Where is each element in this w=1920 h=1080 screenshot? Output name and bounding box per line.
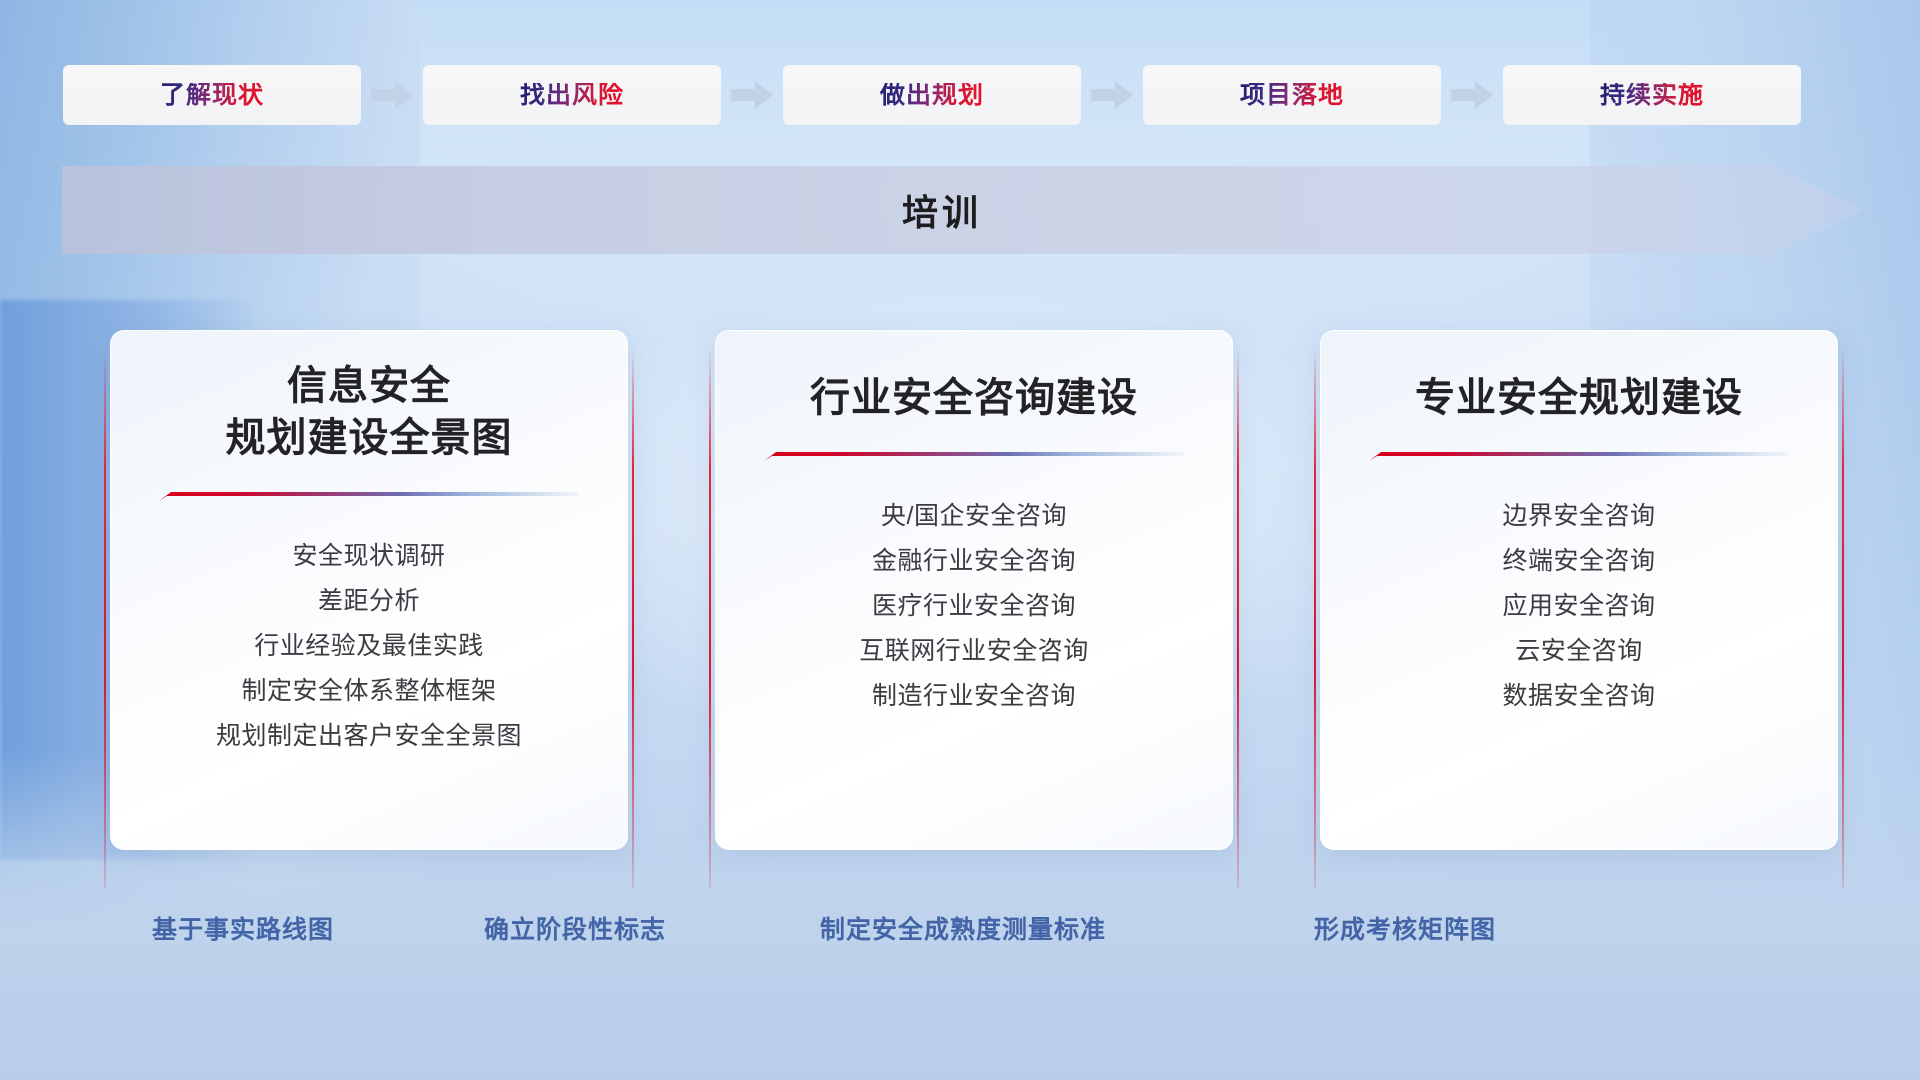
card-accent-line-right <box>1842 348 1844 888</box>
footer-label-4: 形成考核矩阵图 <box>1314 918 1496 943</box>
card-title: 行业安全咨询建设 <box>715 372 1233 424</box>
step-label: 了解现状 <box>160 83 264 108</box>
card-divider <box>764 450 1184 464</box>
footer-labels-row: 基于事实路线图确立阶段性标志制定安全成熟度测量标准形成考核矩阵图 <box>0 918 1920 958</box>
card-list-item[interactable]: 规划制定出客户安全全景图 <box>110 714 628 759</box>
card-title: 专业安全规划建设 <box>1320 372 1838 424</box>
footer-label-1: 基于事实路线图 <box>152 918 334 943</box>
card-list-item[interactable]: 制定安全体系整体框架 <box>110 669 628 714</box>
card-title-line-1: 专业安全规划建设 <box>1344 372 1814 424</box>
card-list-item[interactable]: 差距分析 <box>110 579 628 624</box>
card-panel: 专业安全规划建设边界安全咨询终端安全咨询应用安全咨询云安全咨询数据安全咨询 <box>1320 330 1838 850</box>
card-title-line-1: 信息安全 <box>134 360 604 412</box>
card-list-item[interactable]: 互联网行业安全咨询 <box>715 629 1233 674</box>
card-accent-line-right <box>632 348 634 888</box>
training-banner: 培训 <box>62 160 1862 260</box>
step-box-5[interactable]: 持续实施 <box>1502 64 1802 126</box>
card-title: 信息安全规划建设全景图 <box>110 360 628 464</box>
card-item-list: 边界安全咨询终端安全咨询应用安全咨询云安全咨询数据安全咨询 <box>1320 494 1838 719</box>
step-label: 做出规划 <box>880 83 984 108</box>
step-arrow-icon <box>722 64 782 126</box>
card-list-item[interactable]: 数据安全咨询 <box>1320 674 1838 719</box>
step-box-3[interactable]: 做出规划 <box>782 64 1082 126</box>
card-accent-line-left <box>104 348 106 888</box>
card-list-item[interactable]: 医疗行业安全咨询 <box>715 584 1233 629</box>
step-label: 项目落地 <box>1240 83 1344 108</box>
step-box-2[interactable]: 找出风险 <box>422 64 722 126</box>
card-title-line-2: 规划建设全景图 <box>134 412 604 464</box>
step-arrow-icon <box>1442 64 1502 126</box>
footer-label-2: 确立阶段性标志 <box>484 918 666 943</box>
step-box-4[interactable]: 项目落地 <box>1142 64 1442 126</box>
card-1[interactable]: 信息安全规划建设全景图安全现状调研差距分析行业经验及最佳实践制定安全体系整体框架… <box>104 330 634 870</box>
card-list-item[interactable]: 安全现状调研 <box>110 534 628 579</box>
card-list-item[interactable]: 金融行业安全咨询 <box>715 539 1233 584</box>
card-3[interactable]: 专业安全规划建设边界安全咨询终端安全咨询应用安全咨询云安全咨询数据安全咨询 <box>1314 330 1844 870</box>
step-label: 找出风险 <box>520 83 624 108</box>
card-panel: 信息安全规划建设全景图安全现状调研差距分析行业经验及最佳实践制定安全体系整体框架… <box>110 330 628 850</box>
card-accent-line-left <box>1314 348 1316 888</box>
cards-row: 信息安全规划建设全景图安全现状调研差距分析行业经验及最佳实践制定安全体系整体框架… <box>104 330 1844 870</box>
card-list-item[interactable]: 终端安全咨询 <box>1320 539 1838 584</box>
card-item-list: 央/国企安全咨询金融行业安全咨询医疗行业安全咨询互联网行业安全咨询制造行业安全咨… <box>715 494 1233 719</box>
card-item-list: 安全现状调研差距分析行业经验及最佳实践制定安全体系整体框架规划制定出客户安全全景… <box>110 534 628 759</box>
card-accent-line-left <box>709 348 711 888</box>
card-divider <box>159 490 579 504</box>
card-list-item[interactable]: 边界安全咨询 <box>1320 494 1838 539</box>
card-list-item[interactable]: 应用安全咨询 <box>1320 584 1838 629</box>
step-arrow-icon <box>362 64 422 126</box>
step-arrow-icon <box>1082 64 1142 126</box>
card-panel: 行业安全咨询建设央/国企安全咨询金融行业安全咨询医疗行业安全咨询互联网行业安全咨… <box>715 330 1233 850</box>
card-list-item[interactable]: 制造行业安全咨询 <box>715 674 1233 719</box>
step-box-1[interactable]: 了解现状 <box>62 64 362 126</box>
card-2[interactable]: 行业安全咨询建设央/国企安全咨询金融行业安全咨询医疗行业安全咨询互联网行业安全咨… <box>709 330 1239 870</box>
card-divider <box>1369 450 1789 464</box>
card-list-item[interactable]: 央/国企安全咨询 <box>715 494 1233 539</box>
card-accent-line-right <box>1237 348 1239 888</box>
footer-label-3: 制定安全成熟度测量标准 <box>820 918 1106 943</box>
card-list-item[interactable]: 云安全咨询 <box>1320 629 1838 674</box>
step-label: 持续实施 <box>1600 83 1704 108</box>
step-flow-row: 了解现状找出风险做出规划项目落地持续实施 <box>62 64 1862 126</box>
card-title-line-1: 行业安全咨询建设 <box>739 372 1209 424</box>
banner-label: 培训 <box>62 160 1862 260</box>
card-list-item[interactable]: 行业经验及最佳实践 <box>110 624 628 669</box>
